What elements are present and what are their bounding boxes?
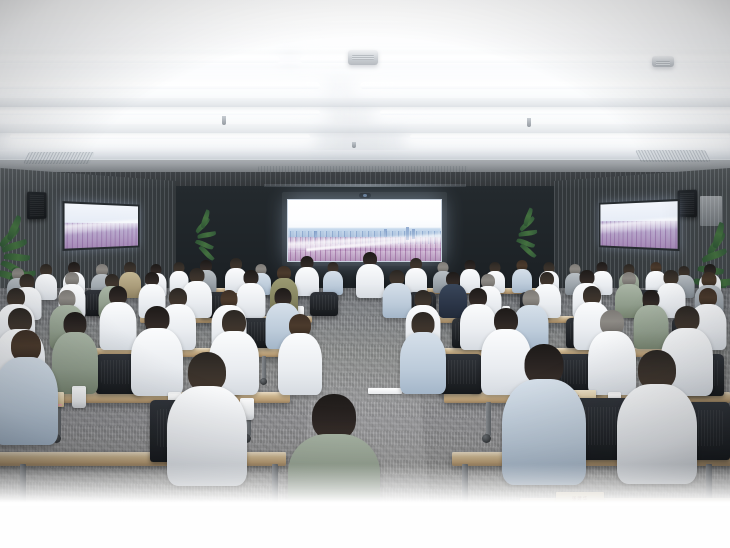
conference-room-photo: 张建华 [0,0,730,506]
attendee [102,286,134,348]
document [368,388,402,394]
display-right[interactable] [599,199,680,251]
smoke-detector-icon [348,50,378,65]
sprinkler-head-icon [222,116,226,125]
attendee [384,270,410,316]
attendee [136,306,178,392]
ceiling-rail [264,184,466,187]
linear-light-fixture [360,82,730,89]
attendee [404,312,442,392]
table-row [520,498,730,506]
screenshot-root: 张建华 [0,0,730,548]
video-camera-icon [359,193,371,198]
linear-light-fixture [380,110,730,115]
presenter-seat [358,252,382,296]
attendee [512,260,531,292]
linear-light-fixture [0,82,320,89]
ceiling [0,0,730,178]
thermos-cup [72,386,86,408]
attendee [56,312,94,392]
linear-light-fixture [0,56,280,63]
attendee [512,344,576,478]
attendee [0,330,52,440]
linear-light-fixture [410,134,730,139]
office-chair [310,292,338,316]
linear-light-fixture [10,134,310,139]
attendee [324,262,342,294]
attendee [626,350,688,478]
loudspeaker-left [27,192,46,220]
smoke-detector-icon [652,56,674,67]
attendee [296,256,317,294]
attendee [298,394,370,506]
sprinkler-head-icon [527,118,531,127]
attendee [176,352,238,478]
loudspeaker-right [678,190,697,218]
attendee [282,314,318,392]
name-card: 张建华 [556,492,604,505]
sprinkler-head-icon [352,142,356,148]
attendee [636,290,666,348]
linear-light-fixture [0,110,320,115]
display-left[interactable] [62,201,139,251]
